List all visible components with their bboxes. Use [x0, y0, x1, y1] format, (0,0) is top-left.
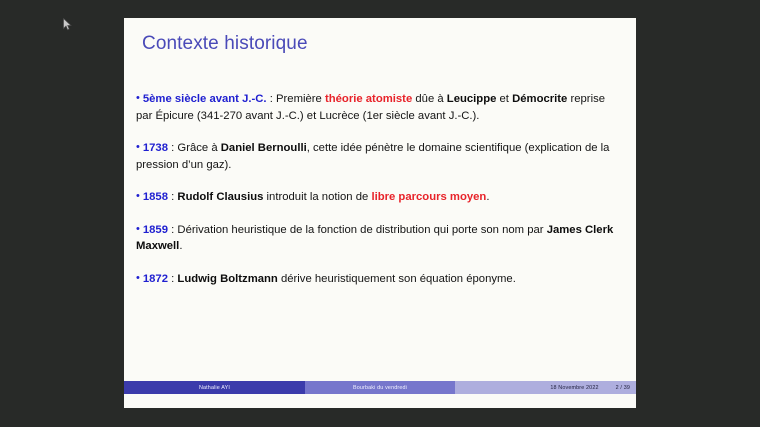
footer-author-label: Nathalie AYI [199, 385, 230, 391]
footer-meta: 18 Novembre 2022 2 / 39 [455, 381, 636, 394]
emphasized-name: Ludwig Boltzmann [177, 273, 277, 285]
bullet-text: et [496, 93, 512, 105]
bullet-separator: : [168, 273, 177, 285]
emphasized-name: Leucippe [447, 93, 497, 105]
bullet-dot-icon: • [136, 190, 143, 202]
bullet-separator: : [168, 142, 177, 154]
bullet-item: •1859 : Dérivation heuristique de la fon… [136, 221, 624, 255]
bullet-date: 1858 [143, 191, 168, 203]
emphasized-name: Rudolf Clausius [177, 191, 263, 203]
footer-event-label: Bourbaki du vendredi [353, 385, 407, 391]
bullet-item: •5ème siècle avant J.-C. : Première théo… [136, 90, 624, 124]
bullet-item: •1872 : Ludwig Boltzmann dérive heuristi… [136, 270, 624, 288]
bullet-text: Dérivation heuristique de la fonction de… [177, 224, 546, 236]
bullet-text: Première [276, 93, 325, 105]
page-title: Contexte historique [142, 33, 308, 55]
mouse-pointer-icon [63, 18, 72, 31]
bullet-date: 1738 [143, 142, 168, 154]
bullet-text: dûe à [412, 93, 447, 105]
bullet-text: dérive heuristiquement son équation épon… [278, 273, 516, 285]
bullet-date: 1872 [143, 273, 168, 285]
highlighted-term: théorie atomiste [325, 93, 412, 105]
footer-date-label: 18 Novembre 2022 [550, 385, 598, 391]
highlighted-term: libre parcours moyen [371, 191, 486, 203]
emphasized-name: Daniel Bernoulli [221, 142, 307, 154]
bullet-dot-icon: • [136, 272, 143, 284]
footer-event: Bourbaki du vendredi [305, 381, 455, 394]
footer-author: Nathalie AYI [124, 381, 305, 394]
bullet-text: . [179, 240, 182, 252]
bullet-dot-icon: • [136, 141, 143, 153]
bullet-separator: : [267, 93, 276, 105]
bullet-dot-icon: • [136, 223, 143, 235]
slide-page[interactable]: Contexte historique •5ème siècle avant J… [124, 18, 636, 408]
bullet-separator: : [168, 191, 177, 203]
bullet-text: introduit la notion de [263, 191, 371, 203]
bullet-item: •1858 : Rudolf Clausius introduit la not… [136, 188, 624, 206]
bullet-text: Grâce à [177, 142, 220, 154]
slide-footer: Nathalie AYI Bourbaki du vendredi 18 Nov… [124, 381, 636, 394]
slide-content: •5ème siècle avant J.-C. : Première théo… [136, 90, 624, 302]
bullet-separator: : [168, 224, 177, 236]
bullet-date: 1859 [143, 224, 168, 236]
bullet-dot-icon: • [136, 92, 143, 104]
emphasized-name: Démocrite [512, 93, 567, 105]
footer-page-number: 2 / 39 [616, 385, 630, 391]
desktop-screen: Contexte historique •5ème siècle avant J… [0, 0, 760, 427]
bullet-text: . [486, 191, 489, 203]
bullet-item: •1738 : Grâce à Daniel Bernoulli, cette … [136, 139, 624, 173]
bullet-date: 5ème siècle avant J.-C. [143, 93, 267, 105]
